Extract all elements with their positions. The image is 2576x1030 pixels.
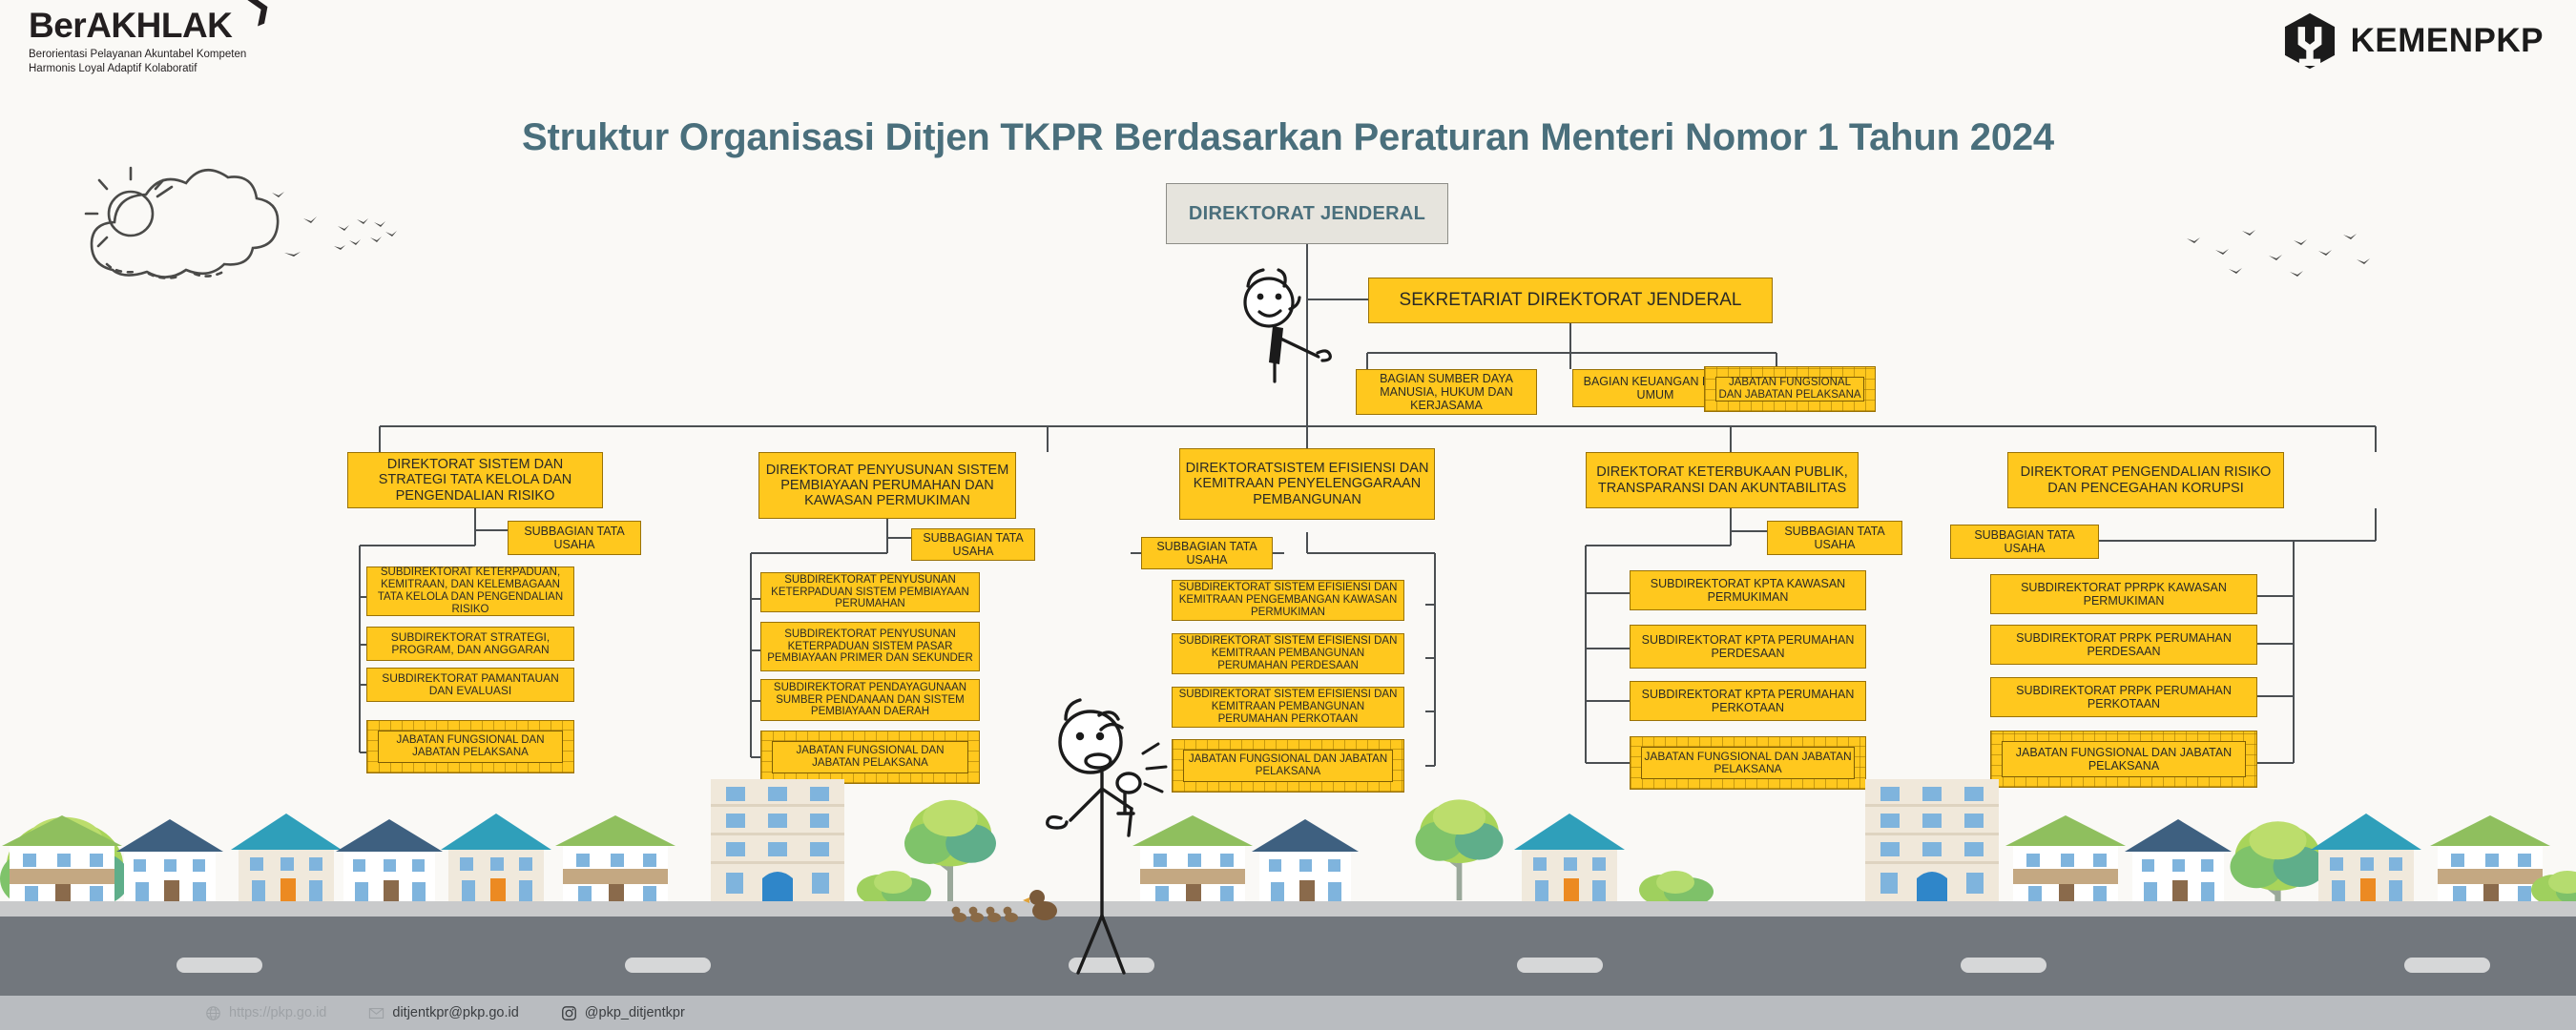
footer-instagram[interactable]: @pkp_ditjentkpr — [561, 1005, 685, 1021]
kemenpkp-hexagon-logo-icon — [2280, 11, 2339, 71]
footer-website[interactable]: https://pkp.go.id — [205, 1005, 326, 1021]
footer-website-label: https://pkp.go.id — [229, 1005, 326, 1020]
berakhlak-tagline-line1: Berorientasi Pelayanan Akuntabel Kompete… — [29, 48, 246, 62]
node-label: SUBDIREKTORAT KPTA PERUMAHAN PERDESAAN — [1635, 633, 1860, 660]
node-label: SUBDIREKTORAT SISTEM EFISIENSI DAN KEMIT… — [1177, 689, 1399, 726]
org-chart-poster: BerAKHLAK ❯ Berorientasi Pelayanan Akunt… — [0, 0, 2576, 1030]
node-direktorat-2-child-2[interactable]: SUBDIREKTORAT PENYUSUNAN KETERPADUAN SIS… — [760, 622, 980, 671]
berakhlak-wordmark: BerAKHLAK ❯ — [29, 8, 246, 43]
node-label: JABATAN FUNGSIONAL DAN JABATAN PELAKSANA — [772, 741, 968, 773]
footer-email[interactable]: ditjentkpr@pkp.go.id — [368, 1005, 518, 1021]
node-label: SUBDIREKTORAT SISTEM EFISIENSI DAN KEMIT… — [1177, 582, 1399, 619]
node-direktorat-3-child-2[interactable]: SUBDIREKTORAT SISTEM EFISIENSI DAN KEMIT… — [1172, 633, 1404, 674]
envelope-icon — [368, 1005, 384, 1021]
page-title: Struktur Organisasi Ditjen TKPR Berdasar… — [0, 116, 2576, 159]
node-direktorat-4-child-4[interactable]: JABATAN FUNGSIONAL DAN JABATAN PELAKSANA — [1630, 736, 1866, 790]
node-direktorat-1-child-2[interactable]: SUBDIREKTORAT STRATEGI, PROGRAM, DAN ANG… — [366, 627, 574, 661]
node-direktorat-4-subbagian[interactable]: SUBBAGIAN TATA USAHA — [1767, 521, 1902, 555]
node-label: SUBDIREKTORAT PRPK PERUMAHAN PERKOTAAN — [1996, 684, 2252, 711]
node-direktorat-2-child-1[interactable]: SUBDIREKTORAT PENYUSUNAN KETERPADUAN SIS… — [760, 572, 980, 612]
node-direktorat-3-child-4[interactable]: JABATAN FUNGSIONAL DAN JABATAN PELAKSANA — [1172, 739, 1404, 793]
node-direktorat-5-child-3[interactable]: SUBDIREKTORAT PRPK PERUMAHAN PERKOTAAN — [1990, 677, 2257, 717]
instagram-icon — [561, 1005, 577, 1021]
node-direktorat-2-child-4[interactable]: JABATAN FUNGSIONAL DAN JABATAN PELAKSANA — [760, 731, 980, 784]
globe-icon — [205, 1005, 221, 1021]
berakhlak-word-ber: Ber — [29, 6, 86, 45]
node-label: SUBDIREKTORAT PPRPK KAWASAN PERMUKIMAN — [1996, 581, 2252, 608]
node-direktorat-4[interactable]: DIREKTORAT KETERBUKAAN PUBLIK, TRANSPARA… — [1586, 452, 1859, 508]
node-label: SUBDIREKTORAT PENYUSUNAN KETERPADUAN SIS… — [766, 574, 974, 611]
node-label: SUBDIREKTORAT PENYUSUNAN KETERPADUAN SIS… — [766, 628, 974, 666]
node-direktorat-jenderal[interactable]: DIREKTORAT JENDERAL — [1166, 183, 1448, 244]
node-label: DIREKTORATSISTEM EFISIENSI DAN KEMITRAAN… — [1185, 461, 1429, 507]
node-label: SUBBAGIAN TATA USAHA — [917, 531, 1029, 558]
kemenpkp-wordmark: KEMENPKP — [2351, 22, 2544, 60]
node-label: SUBBAGIAN TATA USAHA — [1956, 528, 2093, 555]
node-direktorat-1-child-3[interactable]: SUBDIREKTORAT PAMANTAUAN DAN EVALUASI — [366, 668, 574, 702]
node-sekretariat-jabatan-fungsional[interactable]: JABATAN FUNGSIONAL DAN JABATAN PELAKSANA — [1704, 366, 1876, 412]
node-label: SUBDIREKTORAT STRATEGI, PROGRAM, DAN ANG… — [372, 631, 569, 657]
node-label: JABATAN FUNGSIONAL DAN JABATAN PELAKSANA — [2002, 741, 2246, 777]
node-label: JABATAN FUNGSIONAL DAN JABATAN PELAKSANA — [1715, 377, 1864, 402]
node-label: BAGIAN SUMBER DAYA MANUSIA, HUKUM DAN KE… — [1361, 372, 1531, 412]
node-direktorat-4-child-2[interactable]: SUBDIREKTORAT KPTA PERUMAHAN PERDESAAN — [1630, 625, 1866, 669]
node-label: DIREKTORAT KETERBUKAAN PUBLIK, TRANSPARA… — [1591, 464, 1853, 495]
node-direktorat-1-child-1[interactable]: SUBDIREKTORAT KETERPADUAN, KEMITRAAN, DA… — [366, 566, 574, 616]
node-direktorat-5-child-1[interactable]: SUBDIREKTORAT PPRPK KAWASAN PERMUKIMAN — [1990, 574, 2257, 614]
berakhlak-tagline: Berorientasi Pelayanan Akuntabel Kompete… — [29, 48, 246, 76]
node-label: SUBDIREKTORAT PAMANTAUAN DAN EVALUASI — [372, 672, 569, 698]
node-direktorat-1[interactable]: DIREKTORAT SISTEM DAN STRATEGI TATA KELO… — [347, 452, 603, 508]
node-direktorat-4-child-3[interactable]: SUBDIREKTORAT KPTA PERUMAHAN PERKOTAAN — [1630, 681, 1866, 721]
node-direktorat-4-child-1[interactable]: SUBDIREKTORAT KPTA KAWASAN PERMUKIMAN — [1630, 570, 1866, 610]
footer-instagram-label: @pkp_ditjentkpr — [585, 1005, 685, 1020]
node-label: SUBDIREKTORAT SISTEM EFISIENSI DAN KEMIT… — [1177, 635, 1399, 672]
node-direktorat-5-child-4[interactable]: JABATAN FUNGSIONAL DAN JABATAN PELAKSANA — [1990, 731, 2257, 788]
berakhlak-word-akhlak: AKHLAK — [86, 6, 232, 45]
node-label: JABATAN FUNGSIONAL DAN JABATAN PELAKSANA — [1641, 747, 1855, 779]
node-label: SUBDIREKTORAT PRPK PERUMAHAN PERDESAAN — [1996, 631, 2252, 658]
node-direktorat-5-child-2[interactable]: SUBDIREKTORAT PRPK PERUMAHAN PERDESAAN — [1990, 625, 2257, 665]
node-label: DIREKTORAT SISTEM DAN STRATEGI TATA KELO… — [353, 457, 597, 504]
node-direktorat-3-child-3[interactable]: SUBDIREKTORAT SISTEM EFISIENSI DAN KEMIT… — [1172, 687, 1404, 728]
footer-email-label: ditjentkpr@pkp.go.id — [392, 1005, 518, 1020]
footer-contact-bar: https://pkp.go.id ditjentkpr@pkp.go.id @… — [0, 996, 2576, 1030]
kemenpkp-logo: KEMENPKP — [2280, 11, 2544, 71]
node-label: JABATAN FUNGSIONAL DAN JABATAN PELAKSANA — [1183, 750, 1393, 782]
node-label: JABATAN FUNGSIONAL DAN JABATAN PELAKSANA — [378, 731, 563, 763]
berakhlak-logo: BerAKHLAK ❯ Berorientasi Pelayanan Akunt… — [29, 8, 246, 76]
node-label: SUBDIREKTORAT PENDAYAGUNAAN SUMBER PENDA… — [766, 682, 974, 719]
node-bagian-sdm-hukum-kerjasama[interactable]: BAGIAN SUMBER DAYA MANUSIA, HUKUM DAN KE… — [1356, 369, 1537, 415]
node-direktorat-1-child-4[interactable]: JABATAN FUNGSIONAL DAN JABATAN PELAKSANA — [366, 720, 574, 773]
node-direktorat-3-subbagian[interactable]: SUBBAGIAN TATA USAHA — [1141, 537, 1273, 569]
node-label: DIREKTORAT JENDERAL — [1189, 203, 1425, 224]
node-label: DIREKTORAT PENYUSUNAN SISTEM PEMBIAYAAN … — [764, 463, 1010, 509]
node-label: SUBBAGIAN TATA USAHA — [1773, 525, 1897, 551]
node-direktorat-5[interactable]: DIREKTORAT PENGENDALIAN RISIKO DAN PENCE… — [2007, 452, 2284, 508]
node-direktorat-1-subbagian[interactable]: SUBBAGIAN TATA USAHA — [508, 521, 641, 555]
node-direktorat-2-child-3[interactable]: SUBDIREKTORAT PENDAYAGUNAAN SUMBER PENDA… — [760, 679, 980, 721]
node-direktorat-3-child-1[interactable]: SUBDIREKTORAT SISTEM EFISIENSI DAN KEMIT… — [1172, 580, 1404, 621]
node-label: SUBDIREKTORAT KPTA PERUMAHAN PERKOTAAN — [1635, 688, 1860, 714]
node-sekretariat-ditjen[interactable]: SEKRETARIAT DIREKTORAT JENDERAL — [1368, 278, 1773, 323]
node-direktorat-5-subbagian[interactable]: SUBBAGIAN TATA USAHA — [1950, 525, 2099, 559]
node-direktorat-2-subbagian[interactable]: SUBBAGIAN TATA USAHA — [911, 528, 1035, 561]
node-label: SUBBAGIAN TATA USAHA — [1147, 540, 1267, 566]
node-direktorat-2[interactable]: DIREKTORAT PENYUSUNAN SISTEM PEMBIAYAAN … — [758, 452, 1016, 519]
node-label: SEKRETARIAT DIREKTORAT JENDERAL — [1400, 290, 1742, 310]
node-label: SUBDIREKTORAT KETERPADUAN, KEMITRAAN, DA… — [372, 566, 569, 616]
node-label: DIREKTORAT PENGENDALIAN RISIKO DAN PENCE… — [2013, 464, 2278, 495]
node-label: SUBBAGIAN TATA USAHA — [513, 525, 635, 551]
node-direktorat-3[interactable]: DIREKTORATSISTEM EFISIENSI DAN KEMITRAAN… — [1179, 448, 1435, 520]
berakhlak-tagline-line2: Harmonis Loyal Adaptif Kolaboratif — [29, 62, 246, 76]
node-label: SUBDIREKTORAT KPTA KAWASAN PERMUKIMAN — [1635, 577, 1860, 604]
